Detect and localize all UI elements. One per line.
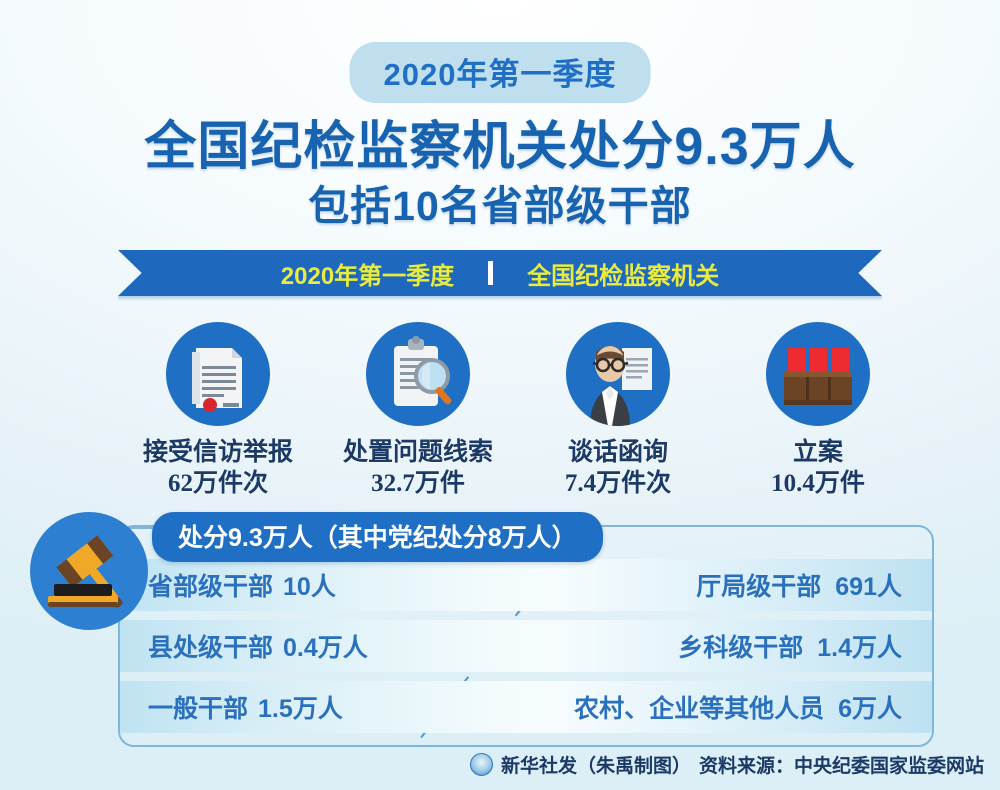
stat-value: 62万件次: [168, 469, 268, 500]
stat-label: 接受信访举报: [143, 438, 293, 469]
stats-row: 接受信访举报 62万件次 处置问题线: [118, 322, 918, 502]
stat-item: 处置问题线索 32.7万件: [318, 322, 518, 502]
infographic-root: 2020年第一季度 全国纪检监察机关处分9.3万人 包括10名省部级干部 202…: [0, 0, 1000, 790]
page-title: 全国纪检监察机关处分9.3万人: [0, 104, 1000, 179]
stat-label: 处置问题线索: [343, 438, 493, 469]
stat-value: 7.4万件次: [565, 469, 671, 500]
row-right-value: 691人: [835, 567, 902, 603]
gavel-icon: [30, 512, 148, 630]
header-badge: 2020年第一季度: [350, 42, 651, 103]
row-left-value: 10人: [283, 567, 336, 603]
page-subtitle: 包括10名省部级干部: [0, 172, 1000, 232]
row-right-value: 6万人: [838, 689, 902, 725]
row-left-value: 0.4万人: [283, 628, 368, 664]
stat-item: 接受信访举报 62万件次: [118, 322, 318, 502]
stat-label: 谈话函询: [568, 438, 668, 469]
discipline-rows: 省部级干部 10人 厅局级干部 691人 县处级干部 0.4万人 乡科级干部 1…: [120, 559, 932, 742]
table-row: 一般干部 1.5万人 农村、企业等其他人员 6万人: [120, 681, 932, 733]
file-cabinet-icon: [766, 322, 870, 426]
row-left-label: 省部级干部: [148, 567, 273, 603]
ribbon-right-text: 全国纪检监察机关: [527, 256, 719, 291]
stat-value: 10.4万件: [771, 469, 865, 500]
row-right-label: 农村、企业等其他人员: [574, 689, 824, 725]
footer: 新华社发（朱禹制图） 资料来源：中央纪委国家监委网站: [470, 751, 984, 778]
row-left-value: 1.5万人: [258, 689, 343, 725]
official-person-icon: [566, 322, 670, 426]
stat-item: 谈话函询 7.4万件次: [518, 322, 718, 502]
row-left-label: 一般干部: [148, 689, 248, 725]
row-right-label: 乡科级干部: [678, 628, 803, 664]
row-left-label: 县处级干部: [148, 628, 273, 664]
stat-item: 立案 10.4万件: [718, 322, 918, 502]
ribbon-banner: 2020年第一季度 全国纪检监察机关: [118, 250, 882, 296]
stat-value: 32.7万件: [371, 469, 465, 500]
clipboard-magnifier-icon: [366, 322, 470, 426]
row-right-label: 厅局级干部: [696, 567, 821, 603]
xinhua-logo-icon: [470, 753, 493, 776]
ribbon-left-text: 2020年第一季度: [281, 256, 454, 291]
stat-label: 立案: [793, 438, 843, 469]
panel-heading-pill: 处分9.3万人（其中党纪处分8万人）: [152, 512, 603, 562]
footer-source: 资料来源：中央纪委国家监委网站: [699, 751, 984, 778]
ribbon-shadow: [118, 296, 882, 301]
document-seal-icon: [166, 322, 270, 426]
ribbon-separator: [488, 261, 493, 285]
footer-credit: 新华社发（朱禹制图）: [501, 751, 691, 778]
table-row: 县处级干部 0.4万人 乡科级干部 1.4万人: [120, 620, 932, 672]
table-row: 省部级干部 10人 厅局级干部 691人: [120, 559, 932, 611]
row-right-value: 1.4万人: [817, 628, 902, 664]
